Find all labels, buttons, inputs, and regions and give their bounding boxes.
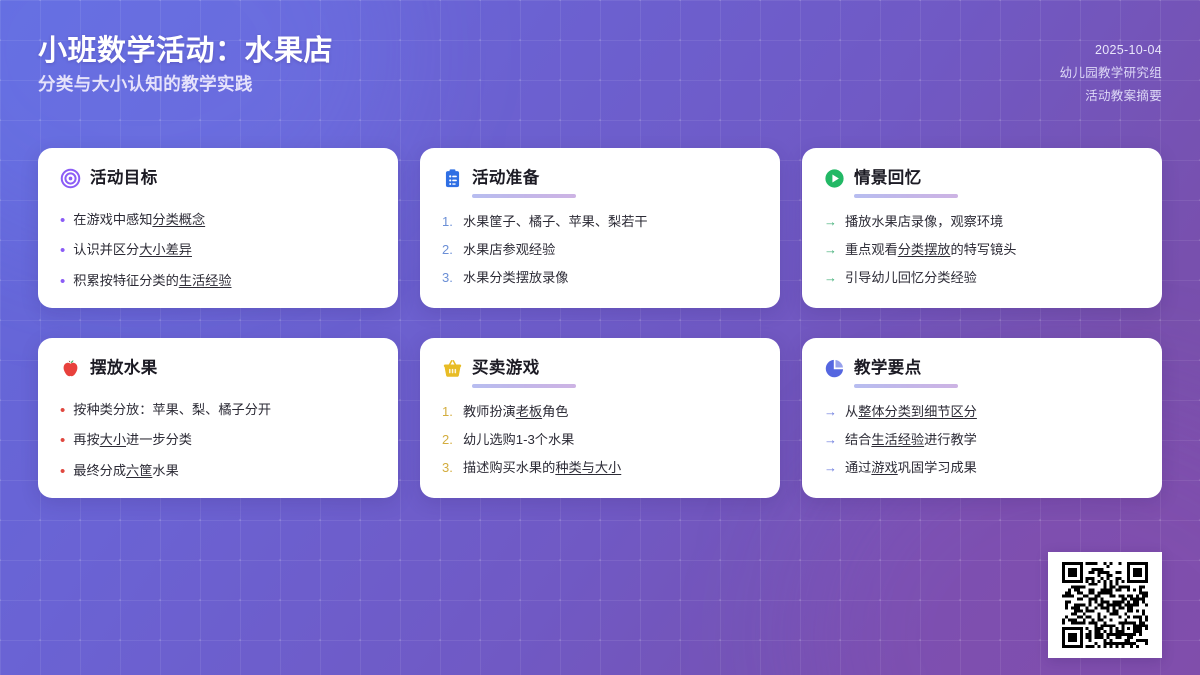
list-item-text: 通过游戏巩固学习成果: [845, 460, 977, 477]
highlighted-term: 整体分类到细节区分: [858, 404, 977, 419]
list-marker: →: [824, 214, 837, 231]
list-item: →结合生活经验进行教学: [824, 426, 1140, 454]
highlighted-term: 分类概念: [152, 212, 205, 227]
card-list: •在游戏中感知分类概念•认识并区分大小差异•积累按特征分类的生活经验: [60, 204, 376, 296]
clipboard-icon: [442, 168, 463, 189]
list-marker: •: [60, 241, 65, 261]
page-title: 小班数学活动：水果店: [38, 36, 333, 66]
list-item: →播放水果店录像，观察环境: [824, 208, 1140, 236]
header-organization: 幼儿园教学研究组: [1060, 65, 1162, 82]
highlighted-term: 种类与大小: [555, 460, 621, 475]
play-circle-icon: [824, 168, 845, 189]
list-item-text: 再按大小进一步分类: [73, 432, 192, 449]
list-item-text: 重点观看分类摆放的特写镜头: [845, 242, 1016, 259]
card-arrange-fruit[interactable]: 摆放水果•按种类分放：苹果、梨、橘子分开•再按大小进一步分类•最终分成六筐水果: [38, 338, 398, 498]
header-meta: 2025-10-04 幼儿园教学研究组 活动教案摘要: [1060, 36, 1162, 105]
list-item-text: 描述购买水果的种类与大小: [463, 460, 621, 477]
card-title-underline: [854, 384, 958, 388]
list-item: →从整体分类到细节区分: [824, 398, 1140, 426]
header-doc-type: 活动教案摘要: [1085, 88, 1162, 105]
list-item: 1.教师扮演老板角色: [442, 398, 758, 426]
card-header: 活动准备: [442, 168, 758, 189]
list-item: →通过游戏巩固学习成果: [824, 454, 1140, 482]
list-item-text: 教师扮演老板角色: [463, 404, 569, 421]
page-subtitle: 分类与大小认知的教学实践: [38, 75, 333, 94]
list-item: →引导幼儿回忆分类经验: [824, 264, 1140, 292]
list-item: 2.水果店参观经验: [442, 236, 758, 264]
card-header: 活动目标: [60, 168, 376, 189]
list-item-text: 水果店参观经验: [463, 242, 555, 259]
basket-icon: [442, 358, 463, 379]
list-marker: •: [60, 401, 65, 421]
card-scene-recall[interactable]: 情景回忆→播放水果店录像，观察环境→重点观看分类摆放的特写镜头→引导幼儿回忆分类…: [802, 148, 1162, 308]
highlighted-term: 分类摆放: [898, 242, 951, 257]
card-list: →从整体分类到细节区分→结合生活经验进行教学→通过游戏巩固学习成果: [824, 398, 1140, 482]
list-marker: •: [60, 462, 65, 482]
list-item: 1.水果筐子、橘子、苹果、梨若干: [442, 208, 758, 236]
list-marker: 3.: [442, 270, 455, 287]
apple-icon: [60, 358, 81, 379]
title-block: 小班数学活动：水果店 分类与大小认知的教学实践: [38, 36, 333, 95]
cards-grid: 活动目标•在游戏中感知分类概念•认识并区分大小差异•积累按特征分类的生活经验活动…: [38, 148, 1162, 498]
list-marker: •: [60, 211, 65, 231]
card-title: 活动准备: [472, 170, 540, 187]
card-list: •按种类分放：苹果、梨、橘子分开•再按大小进一步分类•最终分成六筐水果: [60, 394, 376, 486]
card-title: 情景回忆: [854, 170, 922, 187]
card-activity-goals[interactable]: 活动目标•在游戏中感知分类概念•认识并区分大小差异•积累按特征分类的生活经验: [38, 148, 398, 308]
list-item-text: 幼儿选购1-3个水果: [463, 432, 574, 449]
card-header: 摆放水果: [60, 358, 376, 379]
list-item-text: 在游戏中感知分类概念: [73, 212, 205, 229]
list-item: •认识并区分大小差异: [60, 235, 376, 266]
header-date: 2025-10-04: [1095, 42, 1162, 59]
list-item-text: 播放水果店录像，观察环境: [845, 214, 1003, 231]
list-item: 3.描述购买水果的种类与大小: [442, 454, 758, 482]
list-item: 2.幼儿选购1-3个水果: [442, 426, 758, 454]
list-item-text: 水果筐子、橘子、苹果、梨若干: [463, 214, 648, 231]
list-marker: →: [824, 404, 837, 421]
card-header: 教学要点: [824, 358, 1140, 379]
highlighted-term: 六筐: [126, 463, 152, 478]
list-item-text: 认识并区分大小差异: [73, 242, 192, 259]
card-activity-preparation[interactable]: 活动准备1.水果筐子、橘子、苹果、梨若干2.水果店参观经验3.水果分类摆放录像: [420, 148, 780, 308]
card-buy-sell-game[interactable]: 买卖游戏1.教师扮演老板角色2.幼儿选购1-3个水果3.描述购买水果的种类与大小: [420, 338, 780, 498]
card-title: 买卖游戏: [472, 360, 540, 377]
list-item-text: 从整体分类到细节区分: [845, 404, 977, 421]
card-header: 情景回忆: [824, 168, 1140, 189]
highlighted-term: 生活经验: [871, 432, 924, 447]
list-item-text: 水果分类摆放录像: [463, 270, 569, 287]
list-item-text: 积累按特征分类的生活经验: [73, 273, 231, 290]
list-marker: →: [824, 242, 837, 259]
list-item-text: 按种类分放：苹果、梨、橘子分开: [73, 402, 271, 419]
list-item: →重点观看分类摆放的特写镜头: [824, 236, 1140, 264]
list-marker: 3.: [442, 460, 455, 477]
pie-chart-icon: [824, 358, 845, 379]
list-item: •在游戏中感知分类概念: [60, 204, 376, 235]
card-list: 1.教师扮演老板角色2.幼儿选购1-3个水果3.描述购买水果的种类与大小: [442, 398, 758, 482]
highlighted-term: 游戏: [871, 460, 897, 475]
list-marker: 2.: [442, 432, 455, 449]
list-marker: 2.: [442, 242, 455, 259]
qr-code-container[interactable]: [1048, 552, 1162, 658]
list-marker: •: [60, 272, 65, 292]
list-item-text: 结合生活经验进行教学: [845, 432, 977, 449]
highlighted-term: 大小差异: [139, 242, 192, 257]
card-teaching-points[interactable]: 教学要点→从整体分类到细节区分→结合生活经验进行教学→通过游戏巩固学习成果: [802, 338, 1162, 498]
card-list: →播放水果店录像，观察环境→重点观看分类摆放的特写镜头→引导幼儿回忆分类经验: [824, 208, 1140, 292]
list-item-text: 引导幼儿回忆分类经验: [845, 270, 977, 287]
list-marker: →: [824, 460, 837, 477]
slide-header: 小班数学活动：水果店 分类与大小认知的教学实践 2025-10-04 幼儿园教学…: [0, 0, 1200, 132]
card-title-underline: [472, 384, 576, 388]
card-title-underline: [854, 194, 958, 198]
highlighted-term: 老板: [516, 404, 542, 419]
list-item: •积累按特征分类的生活经验: [60, 265, 376, 296]
card-header: 买卖游戏: [442, 358, 758, 379]
slide-canvas: 小班数学活动：水果店 分类与大小认知的教学实践 2025-10-04 幼儿园教学…: [0, 0, 1200, 675]
list-marker: •: [60, 431, 65, 451]
list-marker: 1.: [442, 404, 455, 421]
highlighted-term: 生活经验: [179, 273, 232, 288]
card-title-underline: [472, 194, 576, 198]
list-item: •再按大小进一步分类: [60, 425, 376, 456]
qr-code[interactable]: [1062, 562, 1148, 648]
card-list: 1.水果筐子、橘子、苹果、梨若干2.水果店参观经验3.水果分类摆放录像: [442, 208, 758, 292]
list-marker: →: [824, 432, 837, 449]
list-item: •按种类分放：苹果、梨、橘子分开: [60, 394, 376, 425]
list-marker: 1.: [442, 214, 455, 231]
highlighted-term: 大小: [100, 432, 126, 447]
card-title: 活动目标: [90, 170, 158, 187]
list-marker: →: [824, 270, 837, 287]
card-title: 摆放水果: [90, 360, 158, 377]
card-title: 教学要点: [854, 360, 922, 377]
target-icon: [60, 168, 81, 189]
list-item-text: 最终分成六筐水果: [73, 463, 179, 480]
list-item: 3.水果分类摆放录像: [442, 264, 758, 292]
list-item: •最终分成六筐水果: [60, 455, 376, 486]
